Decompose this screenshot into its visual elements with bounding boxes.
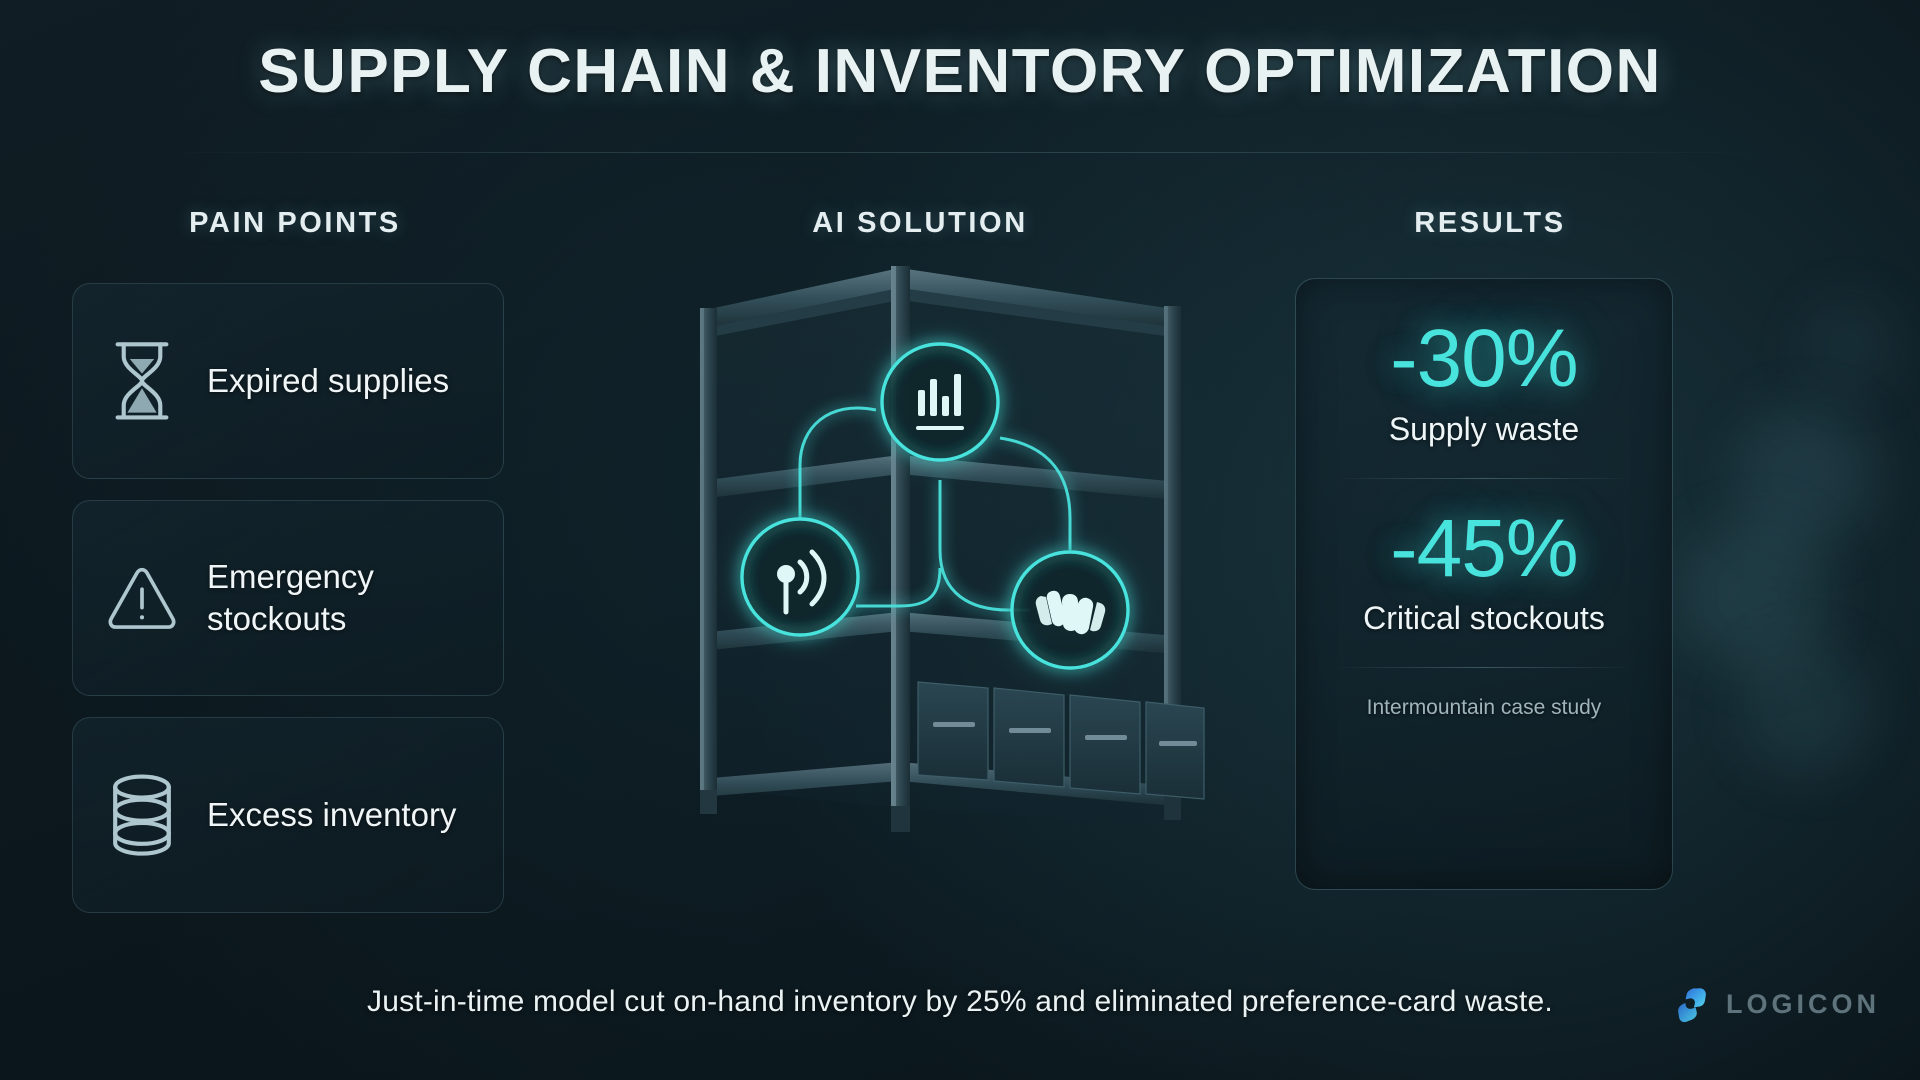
- bokeh-circle: [1740, 645, 1870, 775]
- column-header-ai-solution: AI SOLUTION: [640, 207, 1200, 240]
- results-card: -30% Supply waste -45% Critical stockout…: [1295, 278, 1673, 890]
- warning-triangle-icon: [103, 554, 181, 642]
- pain-point-label: Emergency stockouts: [207, 556, 477, 639]
- bokeh-circle: [1735, 405, 1875, 545]
- slide-title-wrapper: SUPPLY CHAIN & INVENTORY OPTIMIZATION: [0, 36, 1920, 107]
- result-metric: -30% Supply waste: [1389, 317, 1579, 448]
- pain-point-label: Expired supplies: [207, 360, 449, 402]
- logicon-mark-icon: [1670, 982, 1714, 1026]
- metric-label: Critical stockouts: [1363, 600, 1605, 637]
- column-header-results: RESULTS: [1290, 207, 1690, 240]
- title-divider: [160, 152, 1760, 153]
- bokeh-circle: [1805, 300, 1895, 390]
- solution-node-analytics: [878, 340, 1002, 464]
- database-stack-icon: [103, 771, 181, 859]
- results-footnote: Intermountain case study: [1367, 696, 1602, 720]
- results-divider: [1334, 478, 1634, 479]
- solution-node-partnership: [1008, 548, 1132, 672]
- slide-caption: Just-in-time model cut on-hand inventory…: [0, 985, 1920, 1019]
- pain-point-card[interactable]: Excess inventory: [72, 717, 504, 913]
- column-header-pain-points: PAIN POINTS: [70, 207, 520, 240]
- metric-value: -45%: [1390, 507, 1577, 591]
- pain-point-card[interactable]: Emergency stockouts: [72, 500, 504, 696]
- slide-canvas: SUPPLY CHAIN & INVENTORY OPTIMIZATION PA…: [0, 0, 1920, 1080]
- pain-point-label: Excess inventory: [207, 794, 456, 836]
- metric-label: Supply waste: [1389, 411, 1579, 448]
- hourglass-icon: [103, 337, 181, 425]
- results-divider: [1334, 667, 1634, 668]
- page-title: SUPPLY CHAIN & INVENTORY OPTIMIZATION: [0, 36, 1920, 107]
- pain-point-card[interactable]: Expired supplies: [72, 283, 504, 479]
- result-metric: -45% Critical stockouts: [1363, 507, 1605, 638]
- solution-node-rfid: [738, 515, 862, 639]
- ai-solution-illustration: [600, 250, 1300, 890]
- brand-logo: LOGICON: [1670, 982, 1880, 1026]
- brand-name: LOGICON: [1726, 989, 1880, 1020]
- metric-value: -30%: [1390, 317, 1577, 401]
- bokeh-circle: [1680, 520, 1830, 670]
